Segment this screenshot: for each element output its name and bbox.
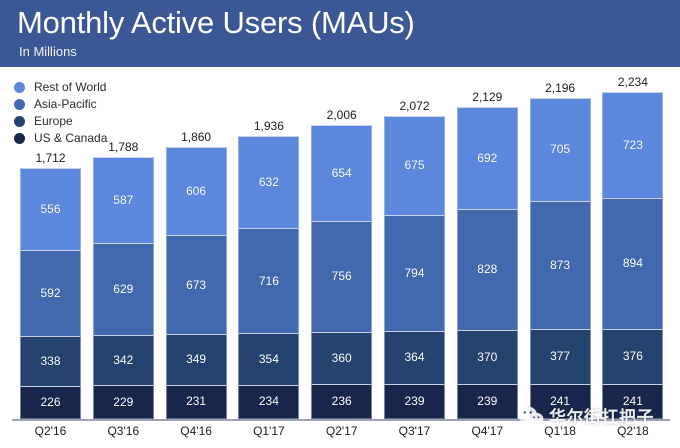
bar-group[interactable]: 2,196705873377241Q1'18 [530, 0, 591, 448]
bar-segment-value: 592 [40, 287, 60, 300]
bar-segment[interactable]: 692 [457, 107, 518, 208]
bar-segment[interactable]: 756 [311, 221, 372, 332]
bar-segment-value: 692 [477, 152, 497, 165]
bar-total-label: 2,006 [311, 108, 372, 122]
bar-total-label: 1,936 [238, 119, 299, 133]
chart-root: Monthly Active Users (MAUs) In Millions … [0, 0, 680, 448]
x-axis-tick-label: Q3'17 [384, 424, 445, 438]
bar-segment[interactable]: 654 [311, 125, 372, 221]
bar-segment[interactable]: 705 [530, 98, 591, 201]
bar-segment-value: 716 [259, 275, 279, 288]
bar-segment[interactable]: 828 [457, 209, 518, 330]
bar-segment[interactable]: 673 [166, 235, 227, 334]
bar-stack: 556592338226 [20, 168, 81, 419]
bar-total-label: 2,234 [602, 75, 663, 89]
bar-segment[interactable]: 632 [238, 136, 299, 229]
bar-segment[interactable]: 231 [166, 385, 227, 419]
bar-segment-value: 239 [477, 395, 497, 408]
bar-segment-value: 370 [477, 351, 497, 364]
watermark-text: 华尔街扛把子 [549, 403, 654, 428]
bar-segment[interactable]: 377 [530, 329, 591, 384]
bar-total-label: 1,712 [20, 151, 81, 165]
bar-segment-value: 873 [550, 259, 570, 272]
bar-stack: 606673349231 [166, 147, 227, 419]
bar-segment[interactable]: 239 [384, 384, 445, 419]
bar-group[interactable]: 1,860606673349231Q4'16 [166, 0, 227, 448]
bar-segment-value: 556 [40, 203, 60, 216]
bar-segment[interactable]: 723 [602, 92, 663, 198]
bar-segment[interactable]: 370 [457, 330, 518, 384]
bar-segment[interactable]: 239 [457, 384, 518, 419]
bar-group[interactable]: 2,234723894376241Q2'18 [602, 0, 663, 448]
bar-segment[interactable]: 349 [166, 334, 227, 385]
bar-segment-value: 675 [404, 159, 424, 172]
bar-segment[interactable]: 556 [20, 168, 81, 249]
bar-stack: 587629342229 [93, 157, 154, 419]
x-axis-tick-label: Q2'16 [20, 424, 81, 438]
bar-group[interactable]: 1,788587629342229Q3'16 [93, 0, 154, 448]
bar-segment-value: 349 [186, 353, 206, 366]
bar-segment-value: 376 [623, 350, 643, 363]
bar-segment[interactable]: 338 [20, 336, 81, 385]
bar-stack: 723894376241 [602, 92, 663, 419]
bar-segment-value: 794 [404, 267, 424, 280]
bar-segment[interactable]: 360 [311, 332, 372, 385]
x-axis-tick-label: Q2'17 [311, 424, 372, 438]
bar-segment-value: 894 [623, 257, 643, 270]
bar-segment-value: 654 [332, 167, 352, 180]
bar-segment[interactable]: 894 [602, 198, 663, 329]
watermark: 华尔街扛把子 [518, 403, 654, 428]
wechat-icon [518, 405, 544, 427]
bar-segment[interactable]: 587 [93, 157, 154, 243]
bar-group[interactable]: 2,006654756360236Q2'17 [311, 0, 372, 448]
bar-segment-value: 239 [404, 395, 424, 408]
bar-segment[interactable]: 236 [311, 384, 372, 419]
bar-stack: 675794364239 [384, 116, 445, 419]
bar-total-label: 1,860 [166, 130, 227, 144]
bar-segment[interactable]: 606 [166, 147, 227, 236]
bar-segment[interactable]: 354 [238, 333, 299, 385]
bar-group[interactable]: 2,072675794364239Q3'17 [384, 0, 445, 448]
bar-group[interactable]: 1,936632716354234Q1'17 [238, 0, 299, 448]
x-axis-tick-label: Q1'17 [238, 424, 299, 438]
bar-stack: 705873377241 [530, 98, 591, 419]
bar-segment-value: 234 [259, 395, 279, 408]
bar-segment[interactable]: 376 [602, 329, 663, 384]
bar-group[interactable]: 2,129692828370239Q4'17 [457, 0, 518, 448]
bar-segment-value: 226 [40, 396, 60, 409]
bar-segment-value: 231 [186, 395, 206, 408]
bar-segment-value: 673 [186, 279, 206, 292]
bar-segment-value: 828 [477, 263, 497, 276]
bar-segment-value: 354 [259, 353, 279, 366]
plot-area: 1,712556592338226Q2'161,788587629342229Q… [0, 0, 680, 448]
bar-segment-value: 338 [40, 355, 60, 368]
bar-total-label: 2,072 [384, 99, 445, 113]
bar-segment[interactable]: 364 [384, 331, 445, 384]
bar-segment[interactable]: 234 [238, 385, 299, 419]
bar-segment-value: 236 [332, 395, 352, 408]
bar-segment-value: 360 [332, 352, 352, 365]
bar-total-label: 2,129 [457, 90, 518, 104]
bar-segment-value: 723 [623, 139, 643, 152]
bar-segment[interactable]: 342 [93, 335, 154, 385]
bar-segment[interactable]: 716 [238, 228, 299, 333]
bar-segment[interactable]: 873 [530, 201, 591, 329]
bar-segment-value: 606 [186, 185, 206, 198]
bar-stack: 692828370239 [457, 107, 518, 419]
bar-segment[interactable]: 592 [20, 250, 81, 337]
bar-segment-value: 342 [113, 354, 133, 367]
bar-total-label: 2,196 [530, 81, 591, 95]
bar-group[interactable]: 1,712556592338226Q2'16 [20, 0, 81, 448]
bar-stack: 654756360236 [311, 125, 372, 419]
bar-segment-value: 364 [404, 351, 424, 364]
bar-segment-value: 705 [550, 143, 570, 156]
bar-segment[interactable]: 794 [384, 215, 445, 331]
bar-segment-value: 377 [550, 350, 570, 363]
bar-stack: 632716354234 [238, 136, 299, 419]
bar-segment-value: 229 [113, 396, 133, 409]
bar-segment[interactable]: 226 [20, 386, 81, 419]
bar-segment-value: 632 [259, 176, 279, 189]
bar-segment-value: 629 [113, 283, 133, 296]
bar-segment[interactable]: 675 [384, 116, 445, 215]
x-axis-tick-label: Q4'17 [457, 424, 518, 438]
bar-segment-value: 587 [113, 194, 133, 207]
x-axis-tick-label: Q3'16 [93, 424, 154, 438]
bar-total-label: 1,788 [93, 140, 154, 154]
bar-segment[interactable]: 229 [93, 385, 154, 419]
bar-segment[interactable]: 629 [93, 243, 154, 335]
bar-segment-value: 756 [332, 270, 352, 283]
x-axis-tick-label: Q4'16 [166, 424, 227, 438]
